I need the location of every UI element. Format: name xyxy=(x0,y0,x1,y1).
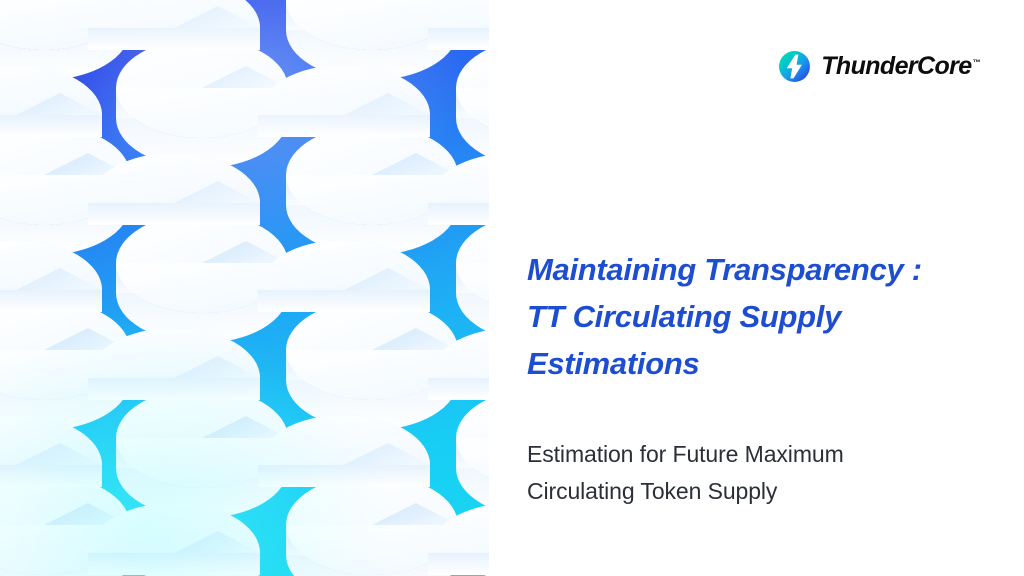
slide-content-area: ThunderCore™ Maintaining Transparency : … xyxy=(489,0,1024,576)
presentation-slide: ThunderCore™ Maintaining Transparency : … xyxy=(0,0,1024,576)
gradient-artwork-panel xyxy=(0,0,489,576)
brand-name-text: ThunderCore xyxy=(821,52,971,80)
slide-title: Maintaining Transparency : TT Circulatin… xyxy=(527,246,997,387)
thundercore-bolt-icon xyxy=(778,50,811,83)
pie-pattern-layer xyxy=(0,0,489,576)
subtitle-line-1: Estimation for Future Maximum xyxy=(527,436,997,473)
slide-subtitle: Estimation for Future Maximum Circulatin… xyxy=(527,436,997,510)
title-line-2: TT Circulating Supply xyxy=(527,293,997,340)
pie-chart-motif xyxy=(410,495,489,576)
trademark-symbol: ™ xyxy=(973,58,980,67)
thundercore-logo: ThunderCore™ xyxy=(778,50,980,83)
title-line-3: Estimations xyxy=(527,340,997,387)
title-line-1: Maintaining Transparency : xyxy=(527,246,997,293)
thundercore-wordmark: ThunderCore™ xyxy=(821,52,980,81)
subtitle-line-2: Circulating Token Supply xyxy=(527,473,997,510)
